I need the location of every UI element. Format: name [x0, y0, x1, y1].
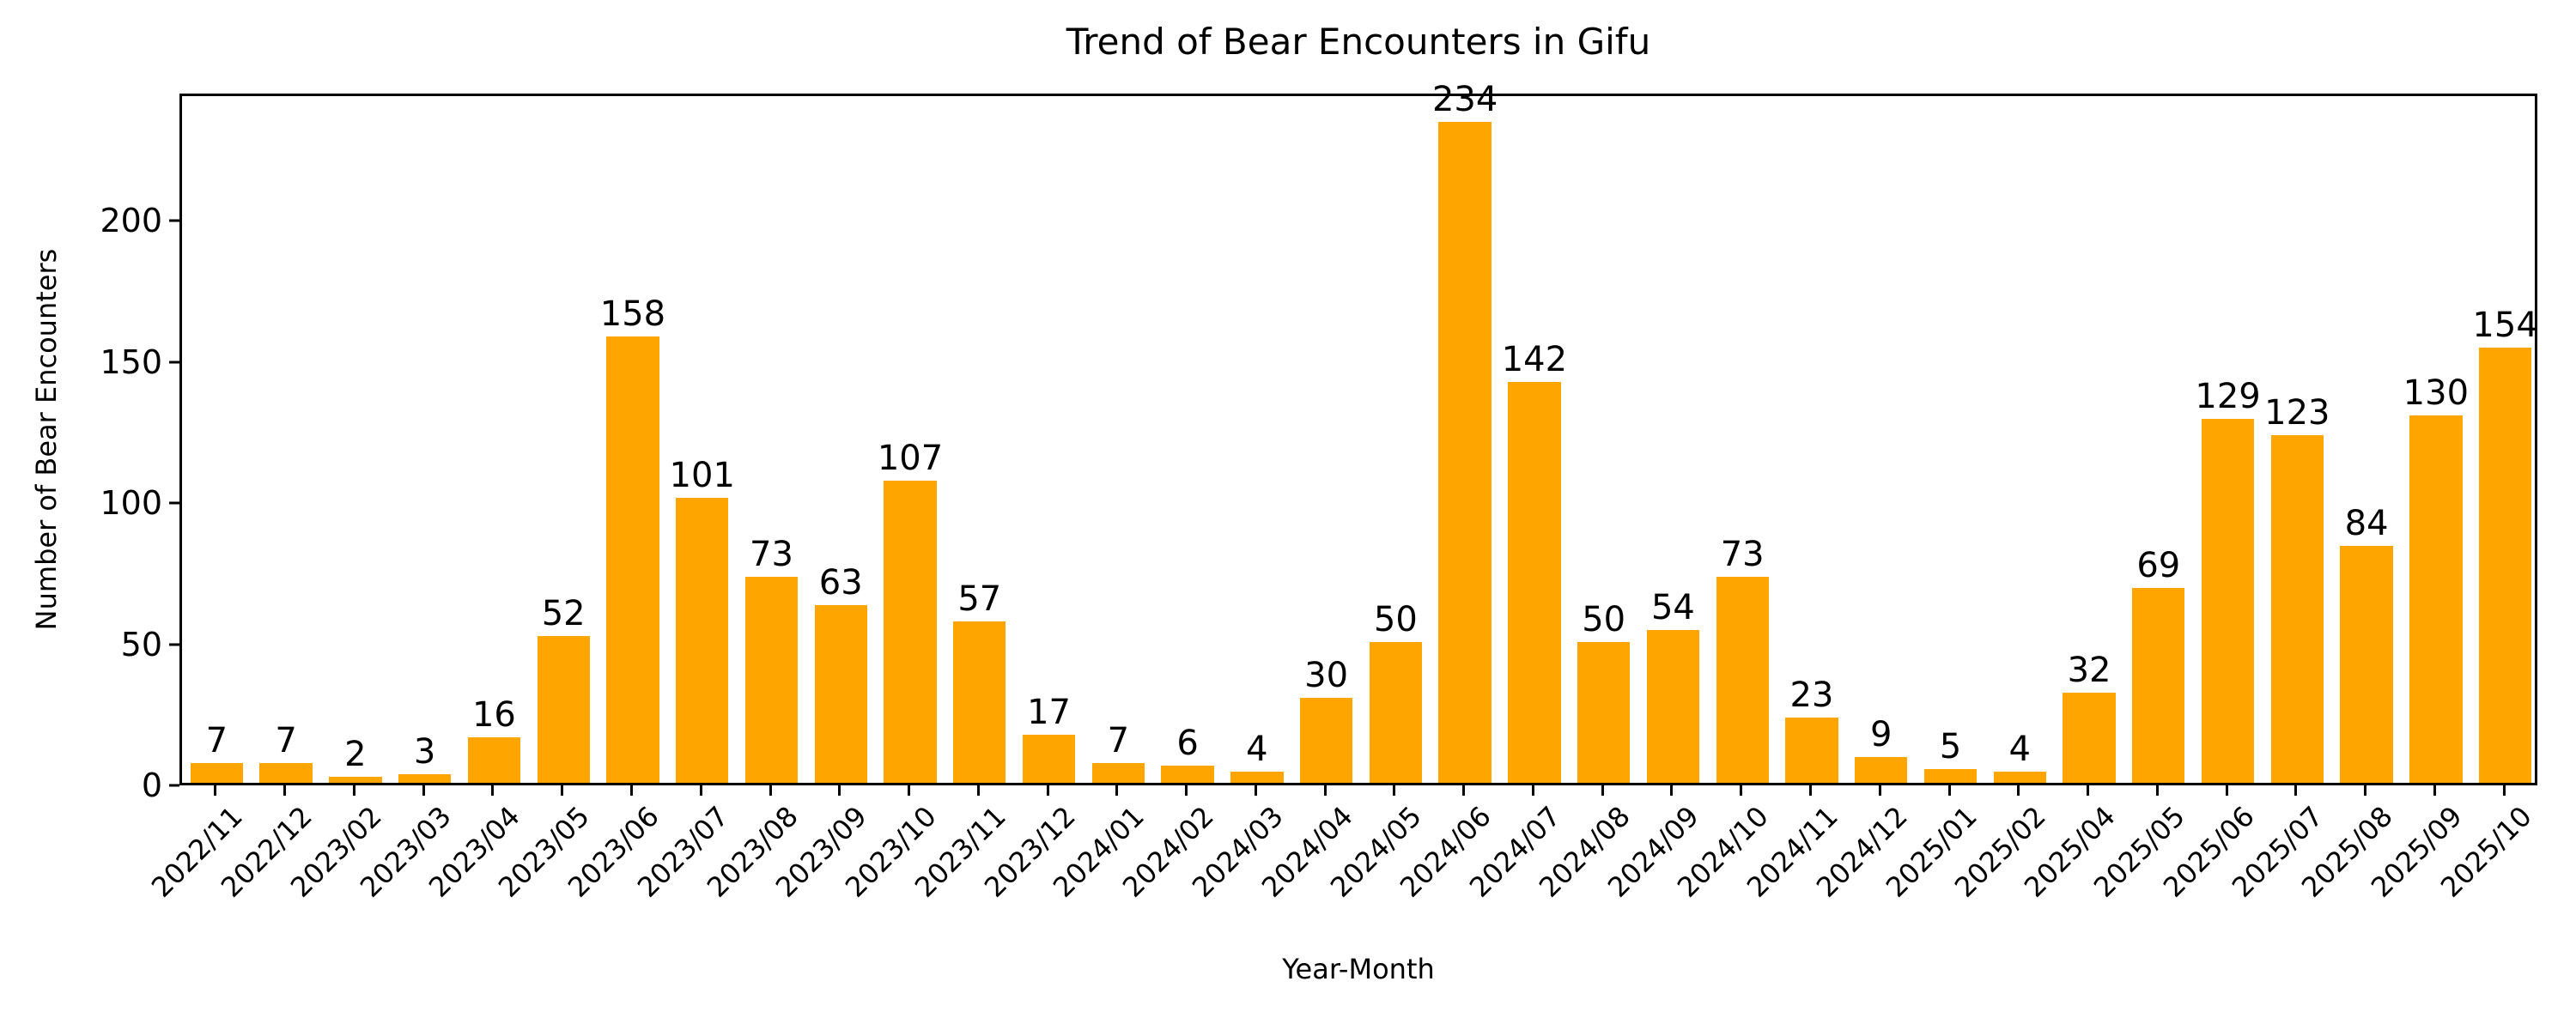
bar-group: 9 — [1846, 96, 1916, 783]
x-tick-mark — [1809, 785, 1812, 796]
bar-value-label: 142 — [1502, 342, 1567, 377]
bar — [1855, 757, 1907, 783]
bar — [398, 774, 451, 783]
x-tick-mark — [1879, 785, 1881, 796]
bar-value-label: 4 — [2009, 732, 2031, 766]
bar — [676, 498, 728, 783]
bar-value-label: 158 — [600, 297, 665, 331]
bar — [329, 777, 381, 783]
bar-group: 6 — [1153, 96, 1223, 783]
x-tick-mark — [353, 785, 355, 796]
bar-group: 154 — [2470, 96, 2540, 783]
bar — [606, 336, 659, 783]
bar — [2409, 415, 2462, 783]
bar — [2202, 419, 2254, 783]
bar-group: 84 — [2332, 96, 2402, 783]
x-tick-mark — [908, 785, 910, 796]
bar — [1577, 642, 1630, 783]
bar — [1785, 718, 1838, 783]
y-tick-label: 150 — [100, 346, 162, 379]
bar-group: 16 — [459, 96, 529, 783]
bar-group: 5 — [1916, 96, 1985, 783]
bar — [468, 737, 520, 783]
bar-value-label: 32 — [2068, 653, 2111, 688]
bar-group: 63 — [806, 96, 876, 783]
bar-value-label: 3 — [414, 735, 435, 769]
x-tick-mark — [422, 785, 425, 796]
x-tick-mark — [283, 785, 286, 796]
bar-value-label: 154 — [2472, 308, 2537, 342]
x-tick-mark — [2087, 785, 2089, 796]
x-tick-mark — [977, 785, 980, 796]
bar-group: 30 — [1291, 96, 1361, 783]
bar-value-label: 23 — [1790, 678, 1834, 712]
bar — [1508, 382, 1560, 783]
bar-group: 123 — [2263, 96, 2332, 783]
bar-value-label: 6 — [1176, 726, 1198, 760]
bar — [1370, 642, 1422, 783]
bar-value-label: 63 — [819, 566, 863, 600]
bar-value-label: 57 — [957, 582, 1001, 616]
bar-value-label: 7 — [275, 724, 296, 758]
x-tick-mark — [2364, 785, 2366, 796]
y-tick-mark — [169, 220, 179, 222]
bar-value-label: 101 — [670, 458, 735, 493]
bar — [1438, 122, 1491, 783]
bar-group: 4 — [1222, 96, 1291, 783]
y-tick-label: 200 — [100, 204, 162, 237]
y-tick-mark — [169, 785, 179, 787]
bar-value-label: 129 — [2195, 379, 2260, 414]
bar — [538, 636, 590, 783]
x-tick-mark — [1255, 785, 1257, 796]
x-tick-mark — [1185, 785, 1188, 796]
bar — [1230, 772, 1283, 783]
y-tick-label: 0 — [142, 769, 162, 802]
bar — [2479, 348, 2531, 783]
bar-value-label: 73 — [750, 537, 793, 572]
bar — [2063, 693, 2115, 783]
bar-group: 32 — [2055, 96, 2124, 783]
bar-group: 4 — [1985, 96, 2055, 783]
bar — [953, 621, 1005, 783]
bar — [745, 577, 798, 783]
x-tick-mark — [2294, 785, 2297, 796]
bar-value-label: 52 — [542, 597, 586, 631]
bar — [1092, 763, 1145, 783]
bar-value-label: 234 — [1432, 82, 1498, 117]
y-tick-mark — [169, 643, 179, 645]
x-tick-mark — [838, 785, 841, 796]
bar-value-label: 9 — [1870, 718, 1892, 752]
bar — [1924, 769, 1977, 783]
bar-value-label: 54 — [1651, 591, 1695, 625]
bar-value-label: 73 — [1721, 537, 1765, 572]
y-tick-mark — [169, 502, 179, 505]
bar-group: 107 — [876, 96, 945, 783]
x-tick-mark — [2433, 785, 2436, 796]
x-tick-mark — [2226, 785, 2228, 796]
bar-group: 3 — [390, 96, 459, 783]
bar-value-label: 130 — [2403, 376, 2469, 410]
bar-value-label: 7 — [1108, 724, 1129, 758]
bar-group: 7 — [1084, 96, 1153, 783]
x-tick-mark — [2503, 785, 2506, 796]
x-tick-mark — [2017, 785, 2020, 796]
x-tick-mark — [1115, 785, 1118, 796]
bar-group: 57 — [945, 96, 1014, 783]
bar-group: 50 — [1569, 96, 1638, 783]
y-tick-label: 50 — [121, 628, 162, 661]
bar — [1994, 772, 2046, 783]
chart-title: Trend of Bear Encounters in Gifu — [179, 24, 2537, 60]
x-tick-mark — [1462, 785, 1465, 796]
bar-value-label: 84 — [2345, 506, 2389, 541]
bar-value-label: 17 — [1027, 695, 1071, 730]
x-tick-mark — [630, 785, 633, 796]
bar-value-label: 69 — [2136, 548, 2180, 583]
x-tick-mark — [1670, 785, 1673, 796]
bar-value-label: 7 — [206, 724, 228, 758]
bar-group: 52 — [529, 96, 598, 783]
bar-group: 17 — [1014, 96, 1084, 783]
bar-group: 23 — [1777, 96, 1847, 783]
x-tick-mark — [1047, 785, 1049, 796]
bar — [259, 763, 312, 783]
bar — [191, 763, 243, 783]
bar — [1647, 630, 1699, 783]
x-tick-mark — [1948, 785, 1951, 796]
bar-value-label: 123 — [2264, 396, 2330, 430]
bar-group: 234 — [1431, 96, 1500, 783]
x-tick-mark — [1393, 785, 1395, 796]
bar-value-label: 2 — [344, 737, 366, 772]
y-tick-mark — [169, 360, 179, 363]
bar-group: 73 — [737, 96, 806, 783]
x-tick-mark — [1532, 785, 1534, 796]
bar-value-label: 16 — [472, 698, 516, 732]
x-tick-mark — [1601, 785, 1604, 796]
bar-group: 101 — [667, 96, 737, 783]
bar-group: 50 — [1361, 96, 1431, 783]
plot-area: 7723165215810173631075717764305023414250… — [179, 94, 2537, 785]
x-tick-mark — [491, 785, 494, 796]
bar — [884, 481, 936, 783]
bar-group: 158 — [598, 96, 668, 783]
bar-group: 54 — [1638, 96, 1708, 783]
x-tick-mark — [561, 785, 563, 796]
bar-value-label: 4 — [1246, 732, 1267, 766]
bar-value-label: 50 — [1582, 603, 1625, 637]
figure-canvas: Trend of Bear Encounters in Gifu Number … — [0, 0, 2576, 1030]
x-tick-mark — [1324, 785, 1327, 796]
bar — [1023, 735, 1075, 783]
bar-value-label: 5 — [1940, 730, 1961, 764]
bar-group: 2 — [321, 96, 391, 783]
bar — [2271, 435, 2324, 783]
bar-group: 69 — [2123, 96, 2193, 783]
bar — [815, 605, 867, 783]
bar — [1300, 698, 1352, 783]
bar-value-label: 50 — [1374, 603, 1418, 637]
y-axis-title: Number of Bear Encounters — [22, 94, 70, 785]
bar-group: 73 — [1708, 96, 1777, 783]
bar — [2132, 588, 2184, 783]
bar-group: 7 — [252, 96, 321, 783]
bars-layer: 7723165215810173631075717764305023414250… — [182, 96, 2535, 783]
x-tick-mark — [700, 785, 702, 796]
x-tick-mark — [1740, 785, 1742, 796]
x-axis-title: Year-Month — [179, 953, 2537, 985]
bar-value-label: 30 — [1304, 658, 1348, 693]
bar-group: 130 — [2401, 96, 2470, 783]
x-tick-mark — [214, 785, 216, 796]
bar-group: 142 — [1500, 96, 1570, 783]
x-tick-mark — [769, 785, 772, 796]
y-tick-label: 100 — [100, 487, 162, 519]
bar-group: 129 — [2193, 96, 2263, 783]
bar-group: 7 — [182, 96, 252, 783]
bar — [2340, 546, 2392, 783]
x-tick-mark — [2156, 785, 2159, 796]
bar-value-label: 107 — [878, 441, 943, 476]
bar — [1716, 577, 1769, 783]
bar — [1161, 766, 1213, 783]
